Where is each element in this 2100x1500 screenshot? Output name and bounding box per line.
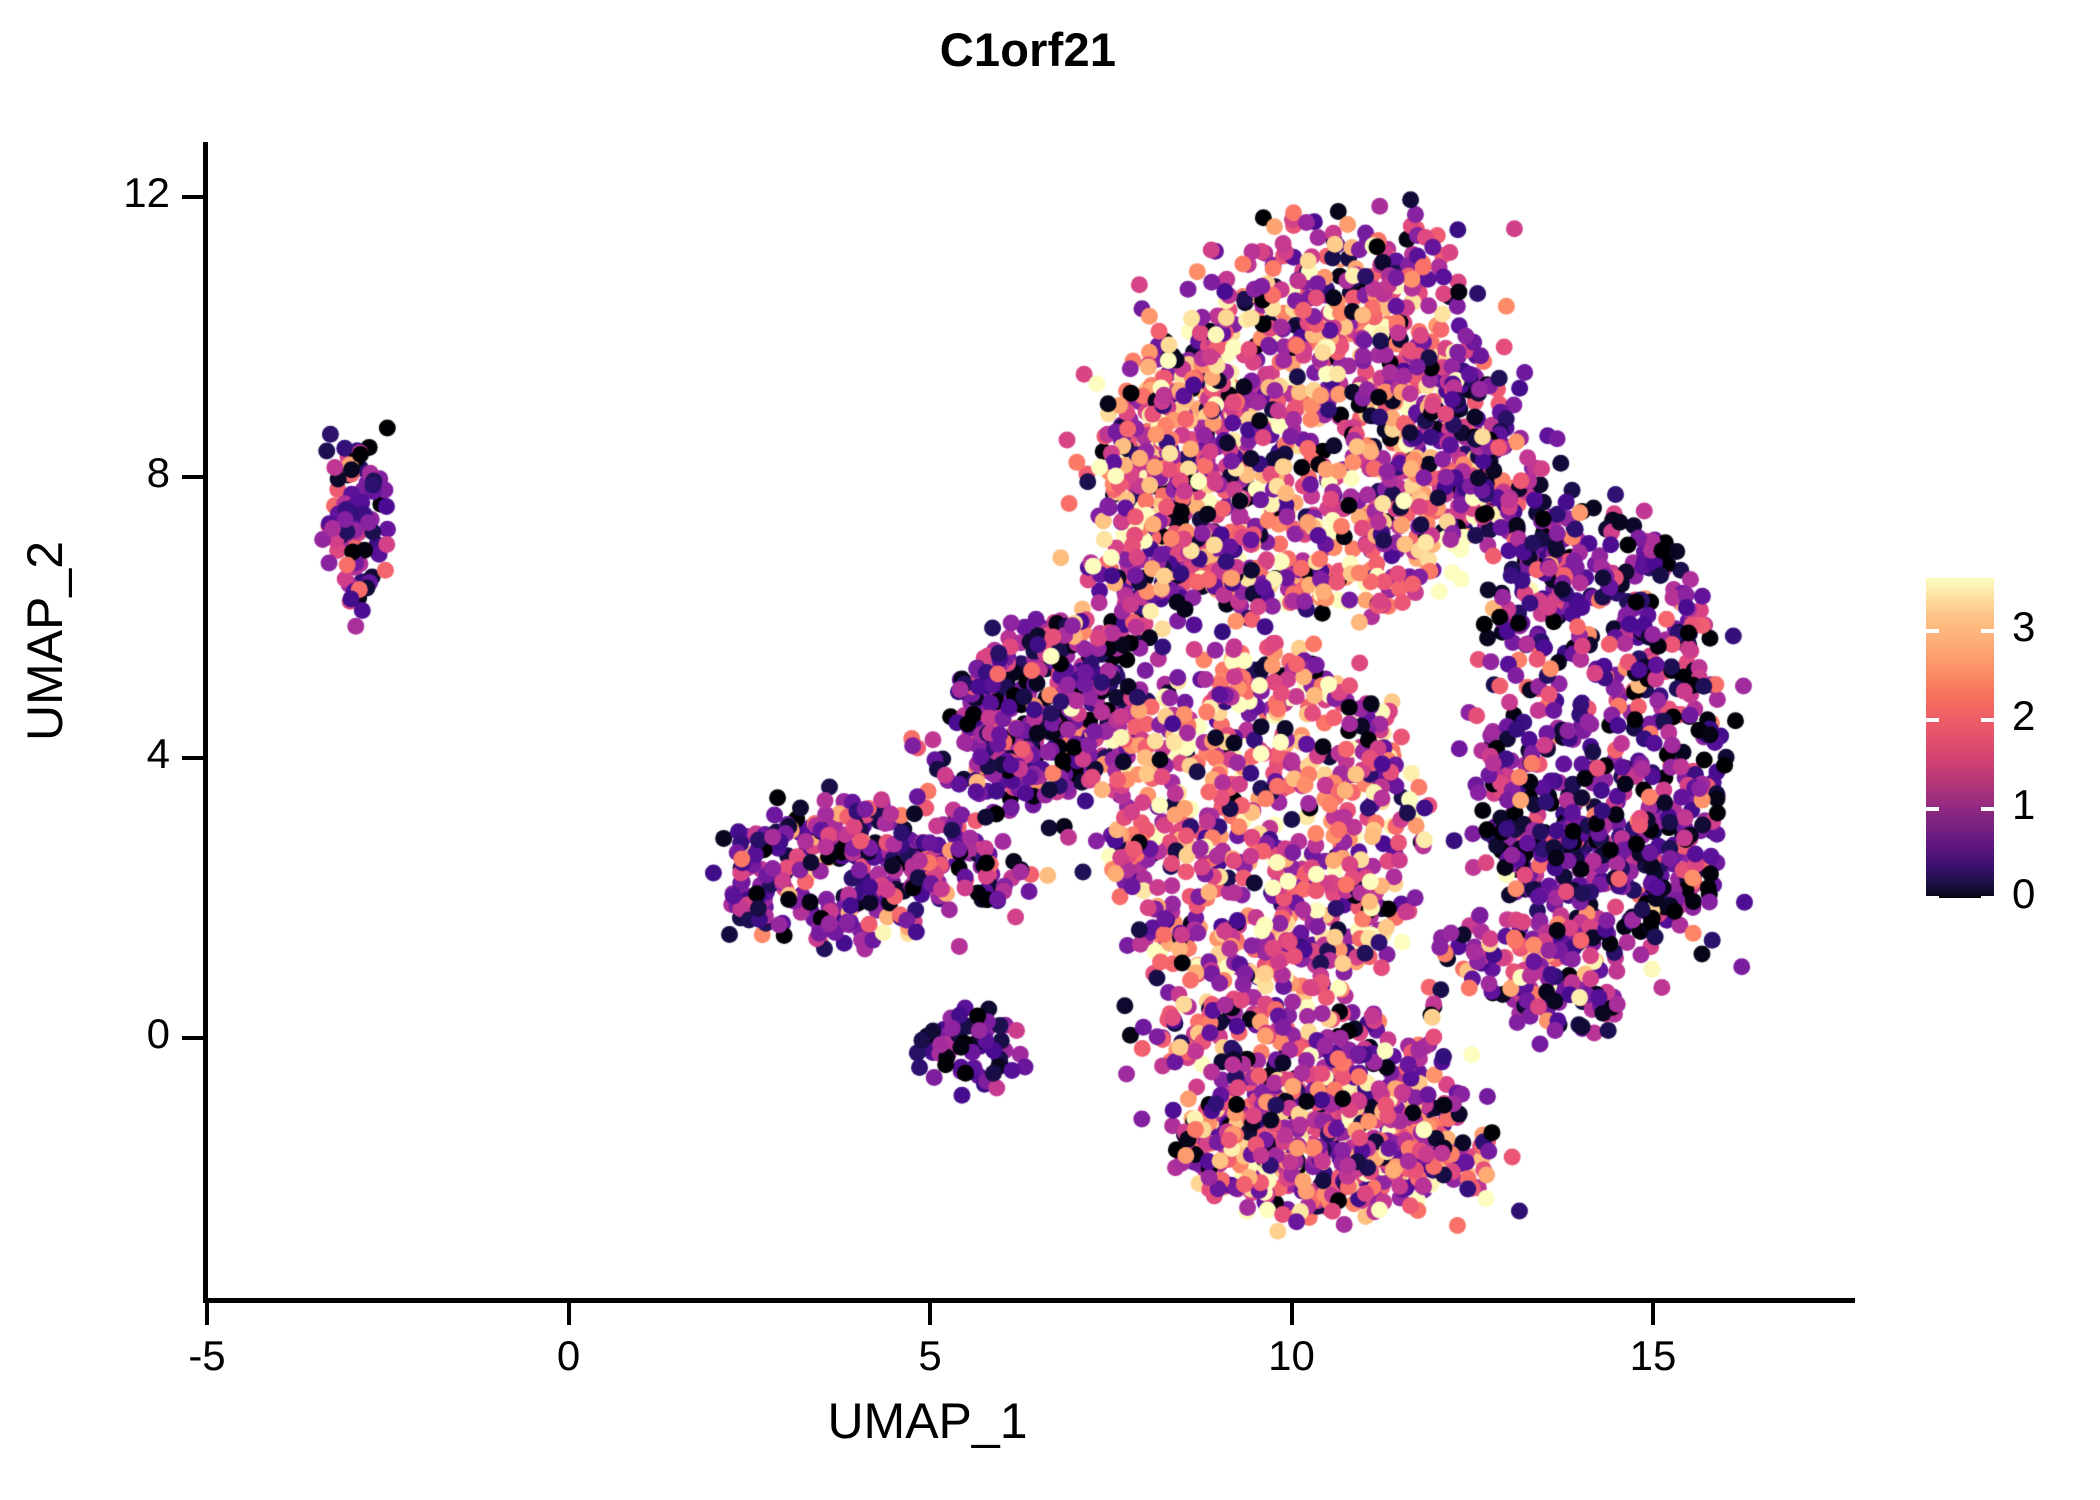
colorbar-tick-mark [1981, 718, 1994, 722]
colorbar-tick-mark [1926, 629, 1939, 633]
colorbar-tick-mark [1926, 718, 1939, 722]
x-axis-tick-label: 0 [469, 1332, 669, 1380]
colorbar-tick-label: 1 [2012, 781, 2100, 829]
colorbar-tick-mark [1926, 807, 1939, 811]
y-axis-tick-mark [182, 1036, 204, 1040]
umap-feature-plot: C1orf21 04812 -5051015 UMAP_1 UMAP_2 321… [0, 0, 2100, 1500]
colorbar-tick-mark [1981, 629, 1994, 633]
y-axis-tick-mark [182, 756, 204, 760]
colorbar-tick-mark [1981, 807, 1994, 811]
x-axis-tick-mark [205, 1303, 209, 1325]
x-axis-title: UMAP_1 [0, 1392, 1855, 1450]
x-axis-tick-label: 15 [1553, 1332, 1753, 1380]
colorbar-tick-mark [1926, 896, 1939, 900]
x-axis-tick-mark [928, 1303, 932, 1325]
colorbar-tick-mark [1981, 896, 1994, 900]
x-axis-tick-label: 10 [1192, 1332, 1392, 1380]
colorbar-gradient [1926, 578, 1994, 898]
x-axis-line [203, 1298, 1855, 1303]
y-axis-line [203, 142, 208, 1303]
y-axis-tick-mark [182, 475, 204, 479]
y-axis-tick-label: 0 [0, 1010, 170, 1058]
page-title: C1orf21 [0, 22, 2078, 77]
colorbar-tick-label: 0 [2012, 870, 2100, 918]
plot-panel [207, 142, 1855, 1300]
colorbar-legend: 3210 [1926, 578, 1994, 898]
x-axis-tick-label: -5 [107, 1332, 307, 1380]
colorbar-tick-label: 3 [2012, 603, 2100, 651]
y-axis-tick-label: 12 [0, 169, 170, 217]
y-axis-tick-mark [182, 195, 204, 199]
x-axis-tick-label: 5 [830, 1332, 1030, 1380]
colorbar-tick-label: 2 [2012, 692, 2100, 740]
x-axis-tick-mark [567, 1303, 571, 1325]
x-axis-tick-mark [1290, 1303, 1294, 1325]
y-axis-title: UMAP_2 [16, 341, 74, 941]
x-axis-tick-mark [1651, 1303, 1655, 1325]
